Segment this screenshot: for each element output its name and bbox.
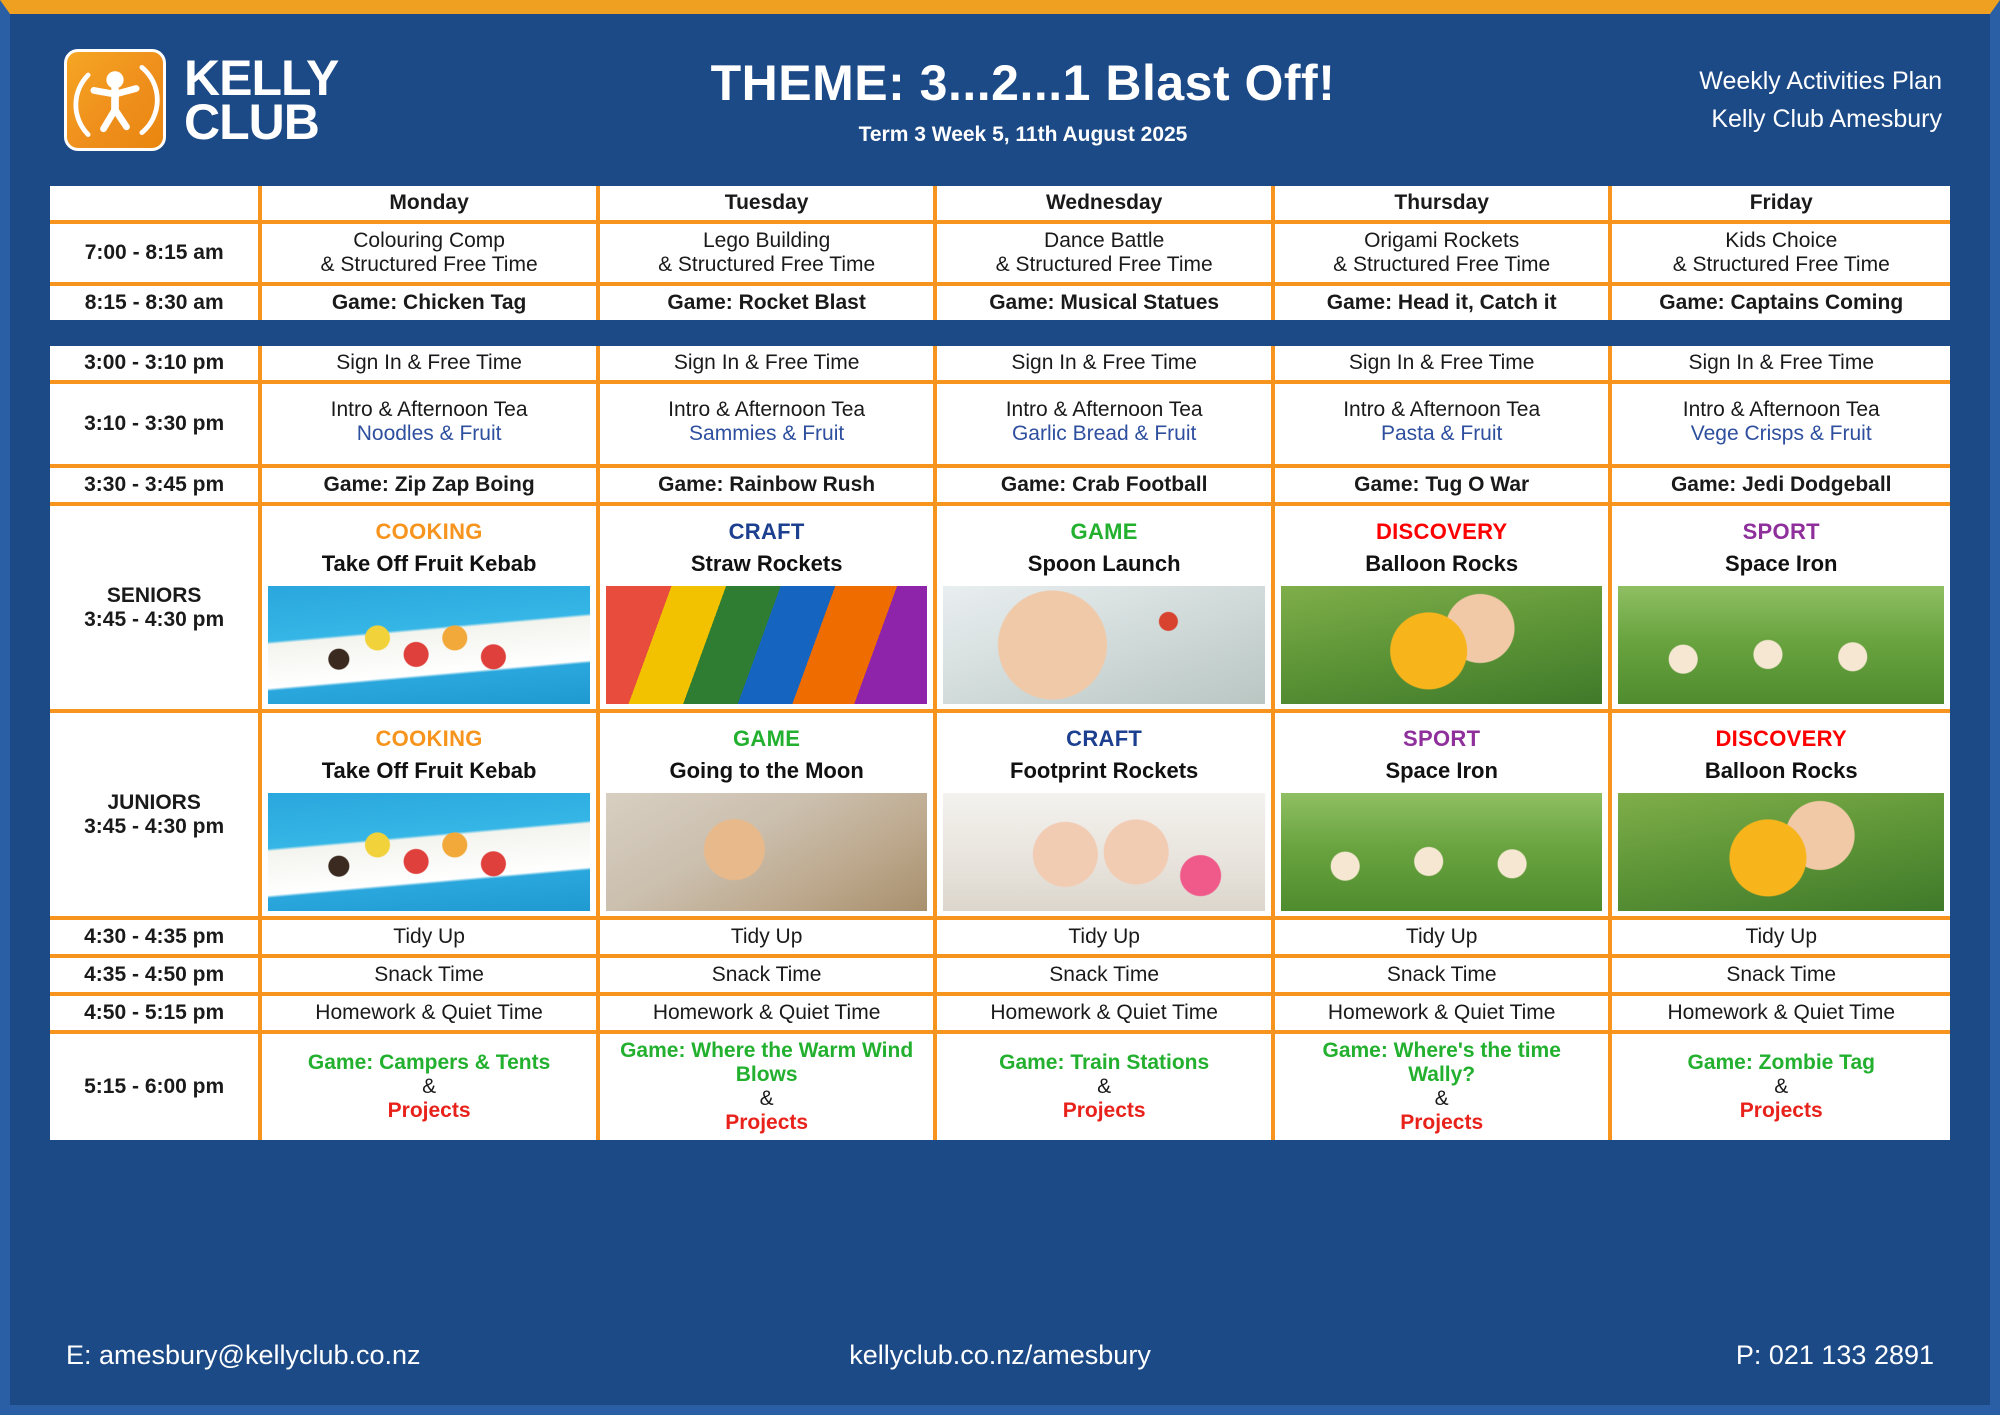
game-line-2: & Projects	[268, 1075, 590, 1123]
schedule-cell: Homework & Quiet Time	[937, 996, 1275, 1034]
activity-name: Take Off Fruit Kebab	[272, 758, 586, 784]
activity-cell: GAME Spoon Launch	[937, 506, 1275, 713]
tea-label: Intro & Afternoon Tea	[943, 398, 1265, 422]
tea-label: Intro & Afternoon Tea	[268, 398, 590, 422]
seniors-label: SENIORS 3:45 - 4:30 pm	[50, 506, 262, 713]
time-label: 3:00 - 3:10 pm	[50, 346, 262, 384]
evening-cell: Game: Zombie Tag & Projects	[1612, 1034, 1950, 1140]
plan-label: Weekly Activities Plan	[1612, 62, 1942, 100]
activity-name: Space Iron	[1622, 551, 1940, 577]
game-cell: Game: Zip Zap Boing	[262, 468, 600, 506]
tea-label: Intro & Afternoon Tea	[1618, 398, 1944, 422]
schedule-cell: Homework & Quiet Time	[262, 996, 600, 1034]
activity-cell: SPORT Space Iron	[1612, 506, 1950, 713]
child-cardboard-rocket-photo	[606, 793, 928, 911]
afternoon-schedule-table: 3:00 - 3:10 pm Sign In & Free Time Sign …	[50, 346, 1950, 1140]
theme-title: THEME: 3...2...1 Blast Off!	[434, 54, 1612, 112]
cell-line-1: Dance Battle	[943, 229, 1265, 253]
activity-name: Going to the Moon	[610, 758, 924, 784]
table-row: 4:50 - 5:15 pm Homework & Quiet Time Hom…	[50, 996, 1950, 1034]
activity-name: Spoon Launch	[947, 551, 1261, 577]
time-label: 3:30 - 3:45 pm	[50, 468, 262, 506]
activity-category: SPORT	[1285, 726, 1599, 752]
schedule-cell: Homework & Quiet Time	[1612, 996, 1950, 1034]
cell-line-2: & Structured Free Time	[1281, 253, 1603, 277]
tea-menu: Garlic Bread & Fruit	[943, 422, 1265, 446]
tea-menu: Vege Crisps & Fruit	[1618, 422, 1944, 446]
activity-cell: COOKING Take Off Fruit Kebab	[262, 713, 600, 920]
theme-subtitle: Term 3 Week 5, 11th August 2025	[434, 123, 1612, 147]
activity-category: DISCOVERY	[1285, 519, 1599, 545]
footer-website[interactable]: kellyclub.co.nz/amesbury	[689, 1340, 1312, 1371]
footer-email[interactable]: E: amesbury@kellyclub.co.nz	[66, 1340, 689, 1371]
evening-cell: Game: Where the Warm Wind Blows & Projec…	[600, 1034, 938, 1140]
boy-slingshot-photo	[943, 586, 1265, 704]
activity-name: Balloon Rocks	[1622, 758, 1940, 784]
schedule-cell: Tidy Up	[937, 920, 1275, 958]
activity-cell: GAME Going to the Moon	[600, 713, 938, 920]
game-line-2: & Projects	[943, 1075, 1265, 1123]
table-row: 4:30 - 4:35 pm Tidy Up Tidy Up Tidy Up T…	[50, 920, 1950, 958]
juniors-row: JUNIORS 3:45 - 4:30 pm COOKING Take Off …	[50, 713, 1950, 920]
evening-cell: Game: Train Stations & Projects	[937, 1034, 1275, 1140]
time-label: 4:50 - 5:15 pm	[50, 996, 262, 1034]
title-block: THEME: 3...2...1 Blast Off! Term 3 Week …	[434, 54, 1612, 147]
activity-cell: CRAFT Straw Rockets	[600, 506, 938, 713]
brand-wordmark: KELLY CLUB	[184, 56, 338, 144]
game-line-1: Game: Where's the time	[1281, 1039, 1603, 1063]
evening-cell: Game: Where's the time Wally? & Projects	[1275, 1034, 1613, 1140]
poster-footer: E: amesbury@kellyclub.co.nz kellyclub.co…	[10, 1305, 1990, 1405]
schedule-cell: Intro & Afternoon Tea Sammies & Fruit	[600, 384, 938, 468]
schedule-cell: Tidy Up	[1612, 920, 1950, 958]
activity-category: COOKING	[272, 519, 586, 545]
ampersand: &	[268, 1075, 590, 1099]
table-row: 7:00 - 8:15 am Colouring Comp & Structur…	[50, 224, 1950, 286]
projects-label: Projects	[943, 1099, 1265, 1123]
section-divider	[10, 320, 1990, 346]
activity-name: Footprint Rockets	[947, 758, 1261, 784]
seniors-row: SENIORS 3:45 - 4:30 pm COOKING Take Off …	[50, 506, 1950, 713]
game-line-1: Game: Campers & Tents	[268, 1051, 590, 1075]
table-row: 5:15 - 6:00 pm Game: Campers & Tents & P…	[50, 1034, 1950, 1140]
schedule-cell: Sign In & Free Time	[600, 346, 938, 384]
activity-cell: DISCOVERY Balloon Rocks	[1612, 713, 1950, 920]
time-label: 4:35 - 4:50 pm	[50, 958, 262, 996]
corner-cell	[50, 186, 262, 224]
projects-label: Projects	[268, 1099, 590, 1123]
juniors-label: JUNIORS 3:45 - 4:30 pm	[50, 713, 262, 920]
day-header-tuesday: Tuesday	[600, 186, 938, 224]
schedule-cell: Intro & Afternoon Tea Pasta & Fruit	[1275, 384, 1613, 468]
cell-line-1: Lego Building	[606, 229, 928, 253]
group-name: JUNIORS	[56, 791, 252, 815]
time-label: 8:15 - 8:30 am	[50, 286, 262, 320]
activity-cell: CRAFT Footprint Rockets	[937, 713, 1275, 920]
header-right-info: Weekly Activities Plan Kelly Club Amesbu…	[1612, 62, 1942, 138]
schedule-cell: Sign In & Free Time	[937, 346, 1275, 384]
schedule-cell: Tidy Up	[600, 920, 938, 958]
game-cont: Blows	[606, 1063, 928, 1087]
footer-phone[interactable]: P: 021 133 2891	[1311, 1340, 1934, 1371]
game-cell: Game: Tug O War	[1275, 468, 1613, 506]
schedule-cell: Intro & Afternoon Tea Vege Crisps & Frui…	[1612, 384, 1950, 468]
activity-name: Space Iron	[1285, 758, 1599, 784]
activities-poster: KELLY CLUB THEME: 3...2...1 Blast Off! T…	[0, 0, 2000, 1415]
brand-lockup: KELLY CLUB	[64, 49, 494, 151]
game-cell: Game: Jedi Dodgeball	[1612, 468, 1950, 506]
game-cell: Game: Captains Coming	[1612, 286, 1950, 320]
table-row: 3:30 - 3:45 pm Game: Zip Zap Boing Game:…	[50, 468, 1950, 506]
cell-line-1: Kids Choice	[1618, 229, 1944, 253]
ampersand: &	[1281, 1087, 1603, 1111]
schedule-cell: Sign In & Free Time	[262, 346, 600, 384]
schedule-cell: Tidy Up	[262, 920, 600, 958]
ampersand: &	[606, 1087, 928, 1111]
activity-name: Balloon Rocks	[1285, 551, 1599, 577]
activity-category: SPORT	[1622, 519, 1940, 545]
evening-cell: Game: Campers & Tents & Projects	[262, 1034, 600, 1140]
cell-line-1: Colouring Comp	[268, 229, 590, 253]
time-label: 3:10 - 3:30 pm	[50, 384, 262, 468]
game-line-1: Game: Where the Warm Wind	[606, 1039, 928, 1063]
poster-header: KELLY CLUB THEME: 3...2...1 Blast Off! T…	[10, 14, 1990, 186]
schedule-cell: Snack Time	[600, 958, 938, 996]
tea-menu: Noodles & Fruit	[268, 422, 590, 446]
morning-schedule-table: Monday Tuesday Wednesday Thursday Friday…	[50, 186, 1950, 320]
activity-name: Straw Rockets	[610, 551, 924, 577]
game-line-1: Game: Train Stations	[943, 1051, 1265, 1075]
game-cont: Wally?	[1281, 1063, 1603, 1087]
cell-line-2: & Structured Free Time	[1618, 253, 1944, 277]
activity-category: GAME	[947, 519, 1261, 545]
ampersand: &	[943, 1075, 1265, 1099]
schedule-cell: Intro & Afternoon Tea Garlic Bread & Fru…	[937, 384, 1275, 468]
day-header-friday: Friday	[1612, 186, 1950, 224]
game-cell: Game: Rocket Blast	[600, 286, 938, 320]
tea-label: Intro & Afternoon Tea	[606, 398, 928, 422]
activity-category: CRAFT	[947, 726, 1261, 752]
schedule-cell: Tidy Up	[1275, 920, 1613, 958]
schedule-cell: Intro & Afternoon Tea Noodles & Fruit	[262, 384, 600, 468]
cell-line-2: & Structured Free Time	[268, 253, 590, 277]
projects-label: Projects	[1618, 1099, 1944, 1123]
time-label: 4:30 - 4:35 pm	[50, 920, 262, 958]
tea-label: Intro & Afternoon Tea	[1281, 398, 1603, 422]
game-line-2: Blows & Projects	[606, 1063, 928, 1135]
painted-feet-photo	[943, 793, 1265, 911]
activity-category: COOKING	[272, 726, 586, 752]
projects-label: Projects	[606, 1111, 928, 1135]
activity-category: GAME	[610, 726, 924, 752]
time-label: 7:00 - 8:15 am	[50, 224, 262, 286]
activity-name: Take Off Fruit Kebab	[272, 551, 586, 577]
fruit-kebab-photo	[268, 586, 590, 704]
game-cell: Game: Rainbow Rush	[600, 468, 938, 506]
tea-menu: Pasta & Fruit	[1281, 422, 1603, 446]
schedule-cell: Snack Time	[937, 958, 1275, 996]
ampersand: &	[1618, 1075, 1944, 1099]
activity-category: DISCOVERY	[1622, 726, 1940, 752]
schedule-cell: Colouring Comp & Structured Free Time	[262, 224, 600, 286]
club-name: Kelly Club Amesbury	[1612, 100, 1942, 138]
game-line-2: & Projects	[1618, 1075, 1944, 1123]
schedule-cell: Homework & Quiet Time	[1275, 996, 1613, 1034]
day-header-thursday: Thursday	[1275, 186, 1613, 224]
schedule-cell: Kids Choice & Structured Free Time	[1612, 224, 1950, 286]
day-header-monday: Monday	[262, 186, 600, 224]
brand-line-2: CLUB	[184, 100, 338, 144]
game-cell: Game: Crab Football	[937, 468, 1275, 506]
time-label: 5:15 - 6:00 pm	[50, 1034, 262, 1140]
table-row: 8:15 - 8:30 am Game: Chicken Tag Game: R…	[50, 286, 1950, 320]
cell-line-1: Origami Rockets	[1281, 229, 1603, 253]
group-time: 3:45 - 4:30 pm	[56, 815, 252, 839]
schedule-cell: Snack Time	[262, 958, 600, 996]
game-cell: Game: Chicken Tag	[262, 286, 600, 320]
activity-cell: COOKING Take Off Fruit Kebab	[262, 506, 600, 713]
schedule-cell: Homework & Quiet Time	[600, 996, 938, 1034]
fruit-kebab-photo	[268, 793, 590, 911]
game-line-1: Game: Zombie Tag	[1618, 1051, 1944, 1075]
schedule-cell: Lego Building & Structured Free Time	[600, 224, 938, 286]
game-cell: Game: Musical Statues	[937, 286, 1275, 320]
boy-balloon-photo	[1281, 586, 1603, 704]
tea-menu: Sammies & Fruit	[606, 422, 928, 446]
kids-running-photo	[1281, 793, 1603, 911]
schedule-cell: Snack Time	[1275, 958, 1613, 996]
schedule-cell: Sign In & Free Time	[1275, 346, 1613, 384]
cell-line-2: & Structured Free Time	[606, 253, 928, 277]
craft-table-photo	[606, 586, 928, 704]
schedule-cell: Sign In & Free Time	[1612, 346, 1950, 384]
group-name: SENIORS	[56, 584, 252, 608]
group-time: 3:45 - 4:30 pm	[56, 608, 252, 632]
schedule-cell: Dance Battle & Structured Free Time	[937, 224, 1275, 286]
projects-label: Projects	[1281, 1111, 1603, 1135]
day-header-row: Monday Tuesday Wednesday Thursday Friday	[50, 186, 1950, 224]
table-row: 3:00 - 3:10 pm Sign In & Free Time Sign …	[50, 346, 1950, 384]
game-line-2: Wally? & Projects	[1281, 1063, 1603, 1135]
boy-balloon-photo	[1618, 793, 1944, 911]
activity-category: CRAFT	[610, 519, 924, 545]
kids-running-photo	[1618, 586, 1944, 704]
schedule-cell: Snack Time	[1612, 958, 1950, 996]
kelly-club-logo-icon	[64, 49, 166, 151]
table-row: 3:10 - 3:30 pm Intro & Afternoon Tea Noo…	[50, 384, 1950, 468]
day-header-wednesday: Wednesday	[937, 186, 1275, 224]
cell-line-2: & Structured Free Time	[943, 253, 1265, 277]
activity-cell: DISCOVERY Balloon Rocks	[1275, 506, 1613, 713]
schedule-cell: Origami Rockets & Structured Free Time	[1275, 224, 1613, 286]
activity-cell: SPORT Space Iron	[1275, 713, 1613, 920]
game-cell: Game: Head it, Catch it	[1275, 286, 1613, 320]
table-row: 4:35 - 4:50 pm Snack Time Snack Time Sna…	[50, 958, 1950, 996]
